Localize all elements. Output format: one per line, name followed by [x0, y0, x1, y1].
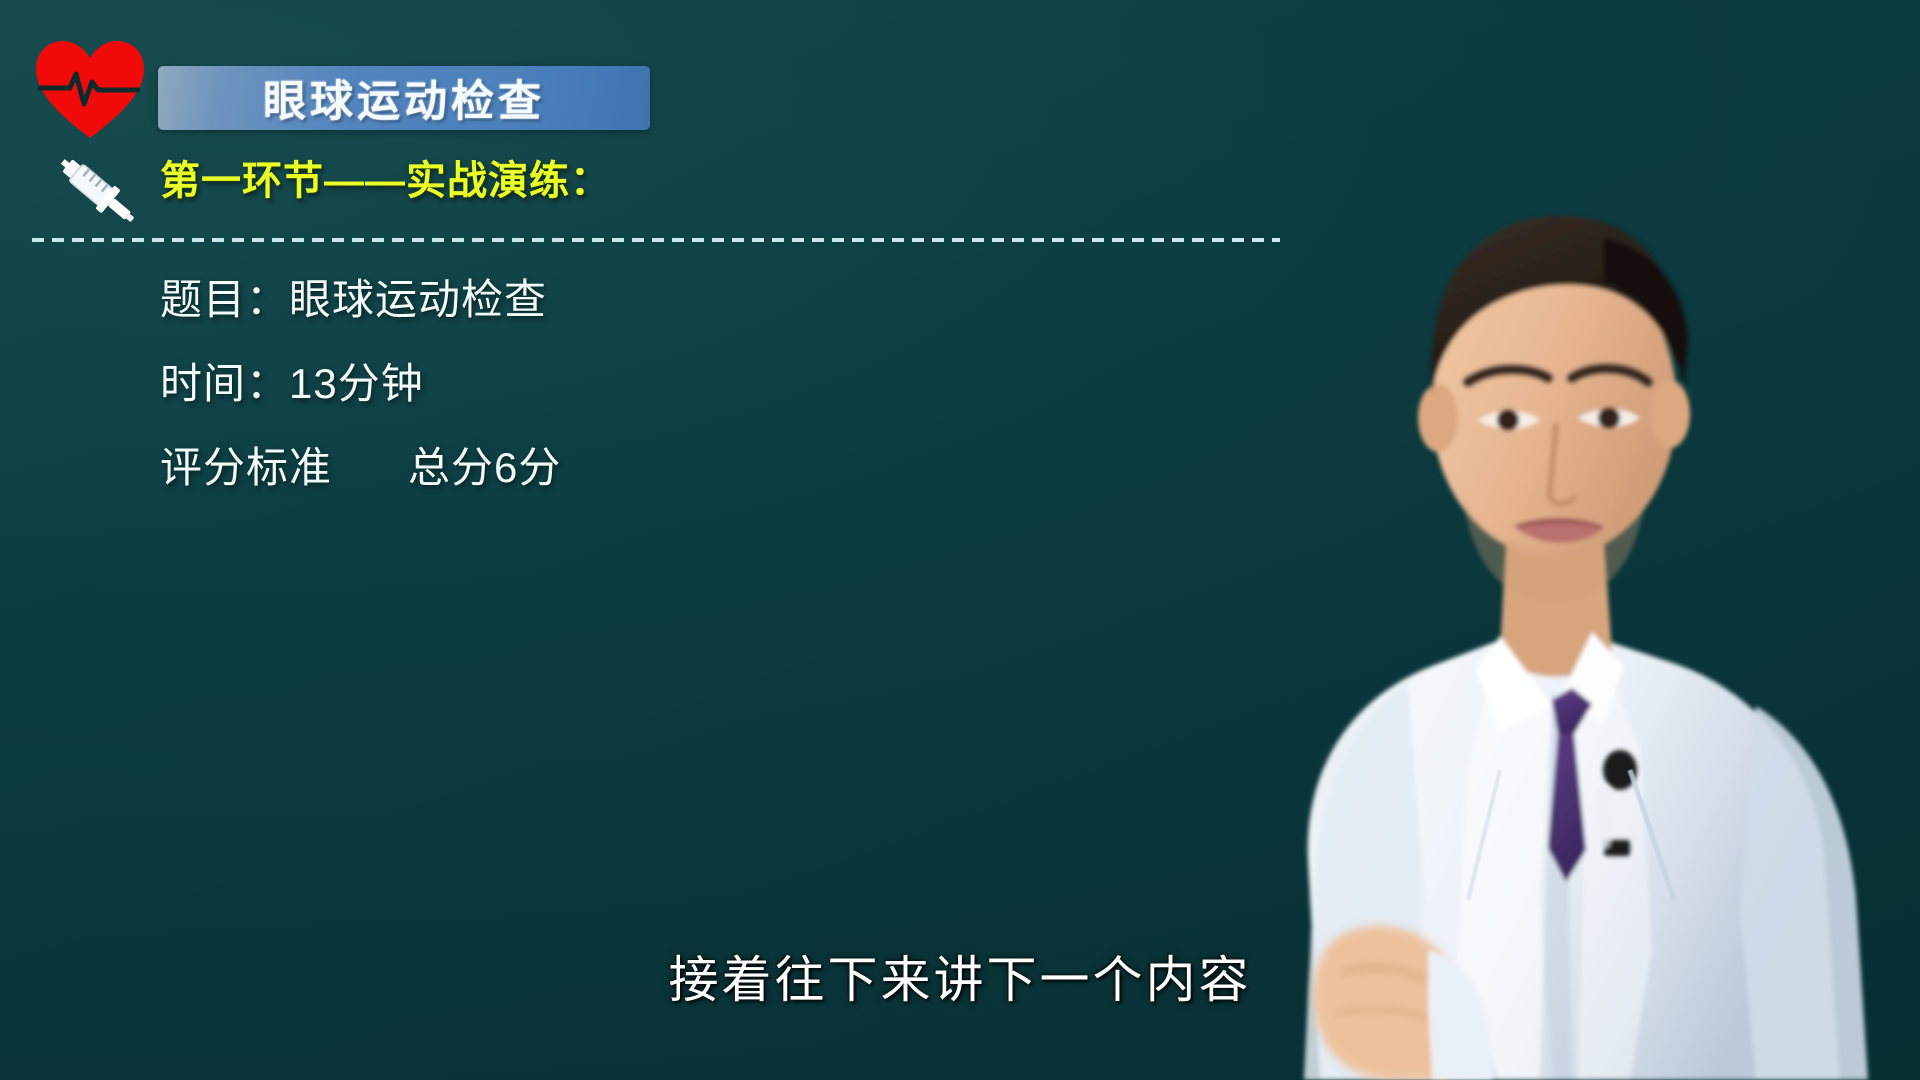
- heart-ecg-icon: [34, 38, 146, 142]
- body-line-scoring: 评分标准 总分6分: [160, 426, 1260, 510]
- body-line-topic: 题目：眼球运动检查: [160, 258, 1260, 342]
- slide-body: 题目：眼球运动检查 时间：13分钟 评分标准 总分6分: [160, 258, 1260, 510]
- syringe-icon: [52, 152, 144, 230]
- body-line-duration: 时间：13分钟: [160, 342, 1260, 426]
- dashed-divider: [32, 238, 1280, 242]
- slide-title-text: 眼球运动检查: [263, 67, 545, 129]
- slide-title-badge: 眼球运动检查: [158, 66, 650, 130]
- section-heading: 第一环节——实战演练：: [160, 148, 611, 206]
- video-frame: 眼球运动检查 第一环节——实战演练： 题目：眼球运动检查 时间：13分钟 评分标…: [0, 0, 1920, 1080]
- subtitle-caption: 接着往下来讲下一个内容: [0, 940, 1920, 1012]
